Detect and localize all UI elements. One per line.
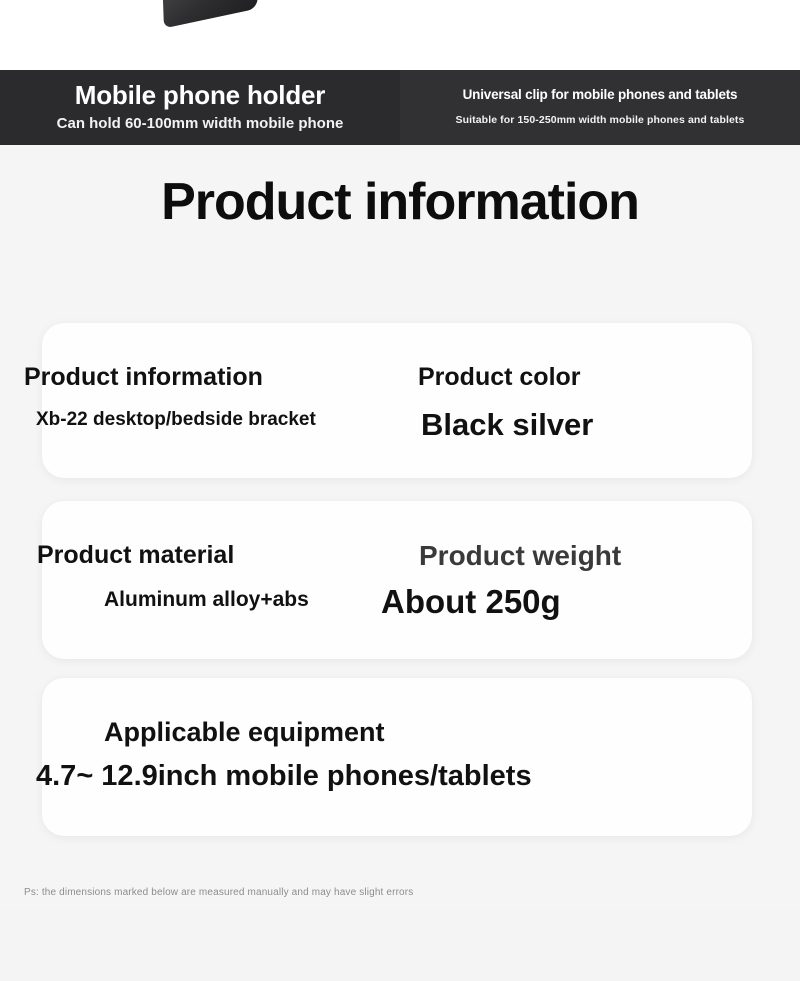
spec-card-3 bbox=[42, 678, 752, 836]
spec-2-right-label-text: Product weight bbox=[419, 540, 621, 571]
spec-2-left-value-text: Aluminum alloy+abs bbox=[104, 588, 309, 611]
spec-1-right-label: Product color bbox=[418, 363, 581, 392]
bottom-spacer bbox=[0, 910, 800, 981]
spec-1-left-value-text: Xb-22 desktop/bedside bracket bbox=[36, 409, 316, 430]
banner-right-title: Universal clip for mobile phones and tab… bbox=[463, 88, 738, 102]
spec-2-left-value: Aluminum alloy+abs bbox=[104, 588, 309, 612]
spec-card-2 bbox=[42, 501, 752, 659]
spec-1-right-value: Black silver bbox=[421, 407, 593, 443]
measurement-disclaimer: Ps: the dimensions marked below are meas… bbox=[24, 887, 413, 898]
spec-banner-right: Universal clip for mobile phones and tab… bbox=[400, 70, 800, 145]
product-photo-left bbox=[0, 0, 400, 70]
spec-2-right-value-text: About 250g bbox=[381, 583, 561, 620]
spec-1-right-label-text: Product color bbox=[418, 363, 581, 391]
spec-2-left-label-text: Product material bbox=[37, 541, 234, 569]
spec-3-value: 4.7~ 12.9inch mobile phones/tablets bbox=[36, 760, 532, 793]
product-photo-strip bbox=[0, 0, 800, 70]
spec-3-label: Applicable equipment bbox=[104, 717, 385, 748]
spec-banner-left: Mobile phone holder Can hold 60-100mm wi… bbox=[0, 70, 400, 145]
spec-2-right-value: About 250g bbox=[381, 583, 561, 621]
banner-right-subtitle: Suitable for 150-250mm width mobile phon… bbox=[456, 114, 745, 128]
phone-holder-base-icon bbox=[162, 0, 258, 28]
spec-2-left-label: Product material bbox=[37, 541, 234, 570]
page-title: Product information bbox=[0, 175, 800, 230]
spec-1-right-value-text: Black silver bbox=[421, 407, 593, 442]
product-info-page: Mobile phone holder Can hold 60-100mm wi… bbox=[0, 0, 800, 981]
spec-banner: Mobile phone holder Can hold 60-100mm wi… bbox=[0, 70, 800, 145]
spec-1-left-value: Xb-22 desktop/bedside bracket bbox=[36, 409, 316, 431]
product-photo-right bbox=[400, 0, 800, 70]
spec-card-1 bbox=[42, 323, 752, 478]
spec-1-left-label: Product information bbox=[24, 363, 263, 392]
spec-3-label-text: Applicable equipment bbox=[104, 717, 385, 747]
banner-left-title: Mobile phone holder bbox=[75, 82, 325, 109]
banner-left-subtitle: Can hold 60-100mm width mobile phone bbox=[57, 114, 344, 134]
spec-1-left-label-text: Product information bbox=[24, 363, 263, 391]
spec-2-right-label: Product weight bbox=[419, 540, 621, 572]
spec-3-value-text: 4.7~ 12.9inch mobile phones/tablets bbox=[36, 760, 532, 792]
